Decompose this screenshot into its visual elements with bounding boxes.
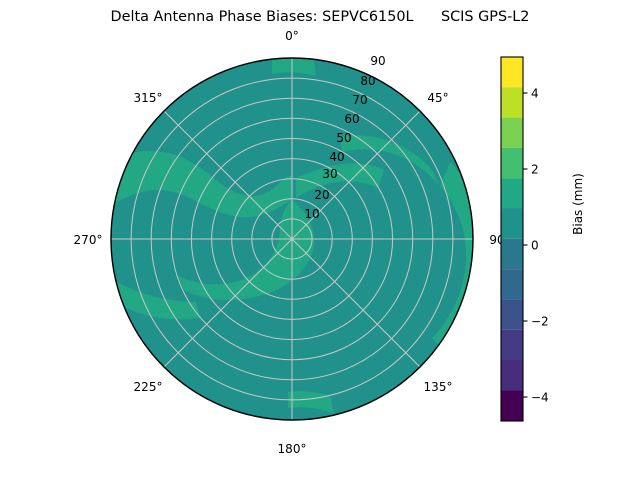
colorbar-swatch-9 (501, 118, 523, 148)
colorbar-swatch-5 (501, 239, 523, 269)
colorbar-swatch-11 (501, 57, 523, 87)
azimuth-label-270: 270° (74, 233, 103, 247)
radial-label-70: 70 (352, 93, 367, 107)
colorbar-ticklabel-2: 2 (531, 163, 539, 177)
radial-label-40: 40 (329, 150, 344, 164)
azimuth-label-225: 225° (134, 380, 163, 394)
angular-gridlines (111, 58, 473, 420)
azimuth-label-45: 45° (427, 91, 448, 105)
azimuth-label-315: 315° (134, 91, 163, 105)
colorbar-swatch-1 (501, 360, 523, 390)
radial-label-10: 10 (304, 207, 319, 221)
radial-label-90: 90 (370, 54, 385, 68)
figure-canvas: Delta Antenna Phase Biases: SEPVC6150L S… (0, 0, 640, 480)
colorbar: 4 2 0 −2 −4 (501, 57, 549, 421)
polar-plot-svg: 0° 45° 90 135° 180° 225° 270° 315° 10 20… (0, 0, 640, 480)
colorbar-swatch-3 (501, 299, 523, 329)
radial-label-50: 50 (336, 131, 351, 145)
azimuth-label-180: 180° (278, 442, 307, 456)
radial-label-20: 20 (314, 188, 329, 202)
polar-plot-area: 0° 45° 90 135° 180° 225° 270° 315° 10 20… (0, 0, 640, 480)
azimuth-label-0: 0° (285, 29, 299, 43)
colorbar-swatch-10 (501, 87, 523, 117)
colorbar-swatch-6 (501, 209, 523, 239)
colorbar-axis-label: Bias (mm) (571, 149, 585, 259)
colorbar-ticklabel-0: 0 (531, 239, 539, 253)
radial-label-30: 30 (322, 167, 337, 181)
colorbar-ticklabel-neg2: −2 (531, 315, 549, 329)
colorbar-ticks (523, 93, 528, 397)
colorbar-swatch-0 (501, 390, 523, 421)
colorbar-swatches (501, 57, 523, 421)
azimuth-label-135: 135° (424, 380, 453, 394)
radial-label-80: 80 (360, 74, 375, 88)
colorbar-ticklabel-neg4: −4 (531, 391, 549, 405)
colorbar-swatch-8 (501, 148, 523, 178)
colorbar-swatch-2 (501, 330, 523, 360)
radial-label-60: 60 (344, 112, 359, 126)
colorbar-swatch-7 (501, 178, 523, 208)
colorbar-ticklabel-4: 4 (531, 87, 539, 101)
colorbar-swatch-4 (501, 269, 523, 299)
